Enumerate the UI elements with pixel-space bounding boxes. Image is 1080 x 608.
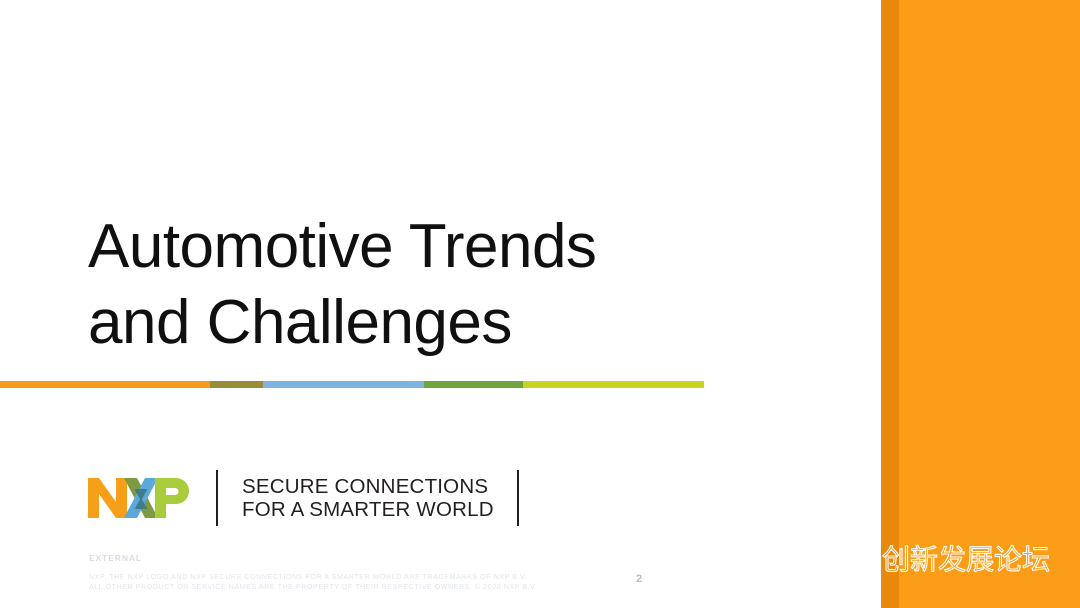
logo-divider-right — [517, 470, 519, 526]
nxp-logo-lockup: SECURE CONNECTIONS FOR A SMARTER WORLD — [88, 470, 519, 526]
rule-segment-green — [424, 381, 523, 388]
orange-accent-strip — [881, 0, 899, 608]
color-rule-divider — [0, 381, 704, 388]
logo-tagline: SECURE CONNECTIONS FOR A SMARTER WORLD — [242, 475, 494, 521]
wechat-icon — [614, 544, 650, 576]
rule-segment-yellow-green — [523, 381, 704, 388]
rule-segment-light-blue — [263, 381, 424, 388]
slide-canvas: Automotive Trends and Challenges — [0, 0, 1080, 608]
nxp-logo-icon — [88, 476, 192, 520]
external-label: EXTERNAL — [89, 553, 142, 563]
legal-notice: NXP, THE NXP LOGO AND NXP SECURE CONNECT… — [89, 572, 537, 593]
rule-segment-orange — [0, 381, 210, 388]
page-title: Automotive Trends and Challenges — [88, 209, 788, 360]
watermark: 汽车电子电气架构创新发展论坛 — [614, 540, 1050, 580]
orange-panel — [899, 0, 1080, 608]
watermark-text: 汽车电子电气架构创新发展论坛 — [658, 546, 1050, 574]
logo-divider-left — [216, 470, 218, 526]
rule-segment-olive — [210, 381, 263, 388]
